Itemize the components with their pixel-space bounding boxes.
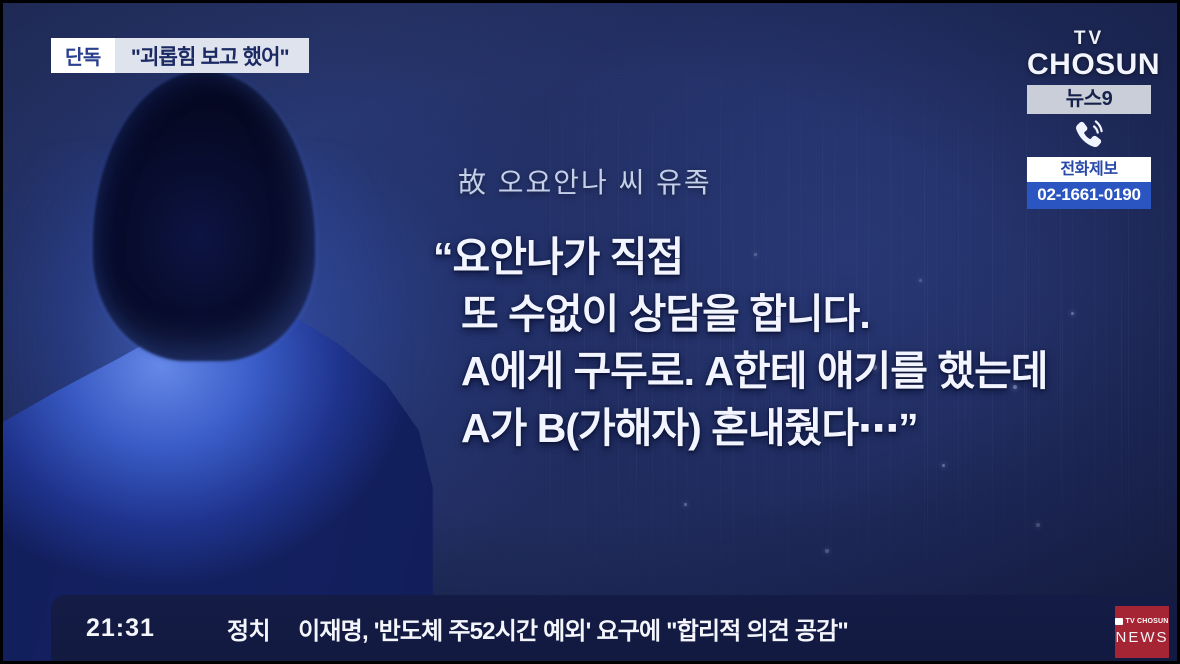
- ticker-clock: 21:31: [86, 614, 155, 643]
- speaker-attribution: 故 오요안나 씨 유족: [458, 161, 712, 201]
- corner-logo-brand: TV CHOSUN: [1125, 617, 1168, 626]
- quote-line-4: A가 B(가해자) 혼내줬다⋯”: [433, 400, 1133, 457]
- corner-logo-brand-row: TV CHOSUN: [1115, 617, 1168, 626]
- channel-name: CHOSUN: [1027, 49, 1151, 81]
- phone-call-icon: [1027, 115, 1151, 157]
- tvchosun-mark-icon: [1115, 618, 1123, 625]
- headline: 단독 "괴롭힘 보고 했어": [51, 38, 309, 73]
- quote-block: “요안나가 직접 또 수없이 상담을 합니다. A에게 구두로. A한테 얘기를…: [433, 229, 1133, 457]
- corner-news-logo: TV CHOSUN NEWS: [1115, 606, 1169, 658]
- news-ticker: 21:31 정치 이재명, '반도체 주52시간 예외' 요구에 "합리적 의견…: [51, 595, 1177, 661]
- tipline: 전화제보 02-1661-0190: [1027, 115, 1151, 209]
- quote-line-1: “요안나가 직접: [433, 229, 1133, 286]
- quote-line-3: A에게 구두로. A한테 얘기를 했는데: [433, 343, 1133, 400]
- corner-logo-word: NEWS: [1116, 628, 1169, 647]
- quote-line-2: 또 수없이 상담을 합니다.: [433, 286, 1133, 343]
- tipline-label: 전화제보: [1027, 157, 1151, 182]
- channel-branding: TV CHOSUN 뉴스9: [1027, 29, 1151, 114]
- channel-prefix: TV: [1027, 29, 1151, 49]
- headline-text: "괴롭힘 보고 했어": [115, 38, 309, 73]
- interviewee-silhouette: [0, 81, 433, 661]
- silhouette-head-rimlight: [91, 69, 317, 363]
- broadcast-frame: 단독 "괴롭힘 보고 했어" TV CHOSUN 뉴스9 전화제보 02-166…: [0, 0, 1180, 664]
- ticker-category: 정치: [227, 611, 270, 646]
- program-title: 뉴스9: [1027, 85, 1151, 114]
- ticker-headline: 이재명, '반도체 주52시간 예외' 요구에 "합리적 의견 공감": [298, 611, 848, 646]
- exclusive-badge: 단독: [51, 38, 115, 73]
- tipline-number: 02-1661-0190: [1027, 182, 1151, 209]
